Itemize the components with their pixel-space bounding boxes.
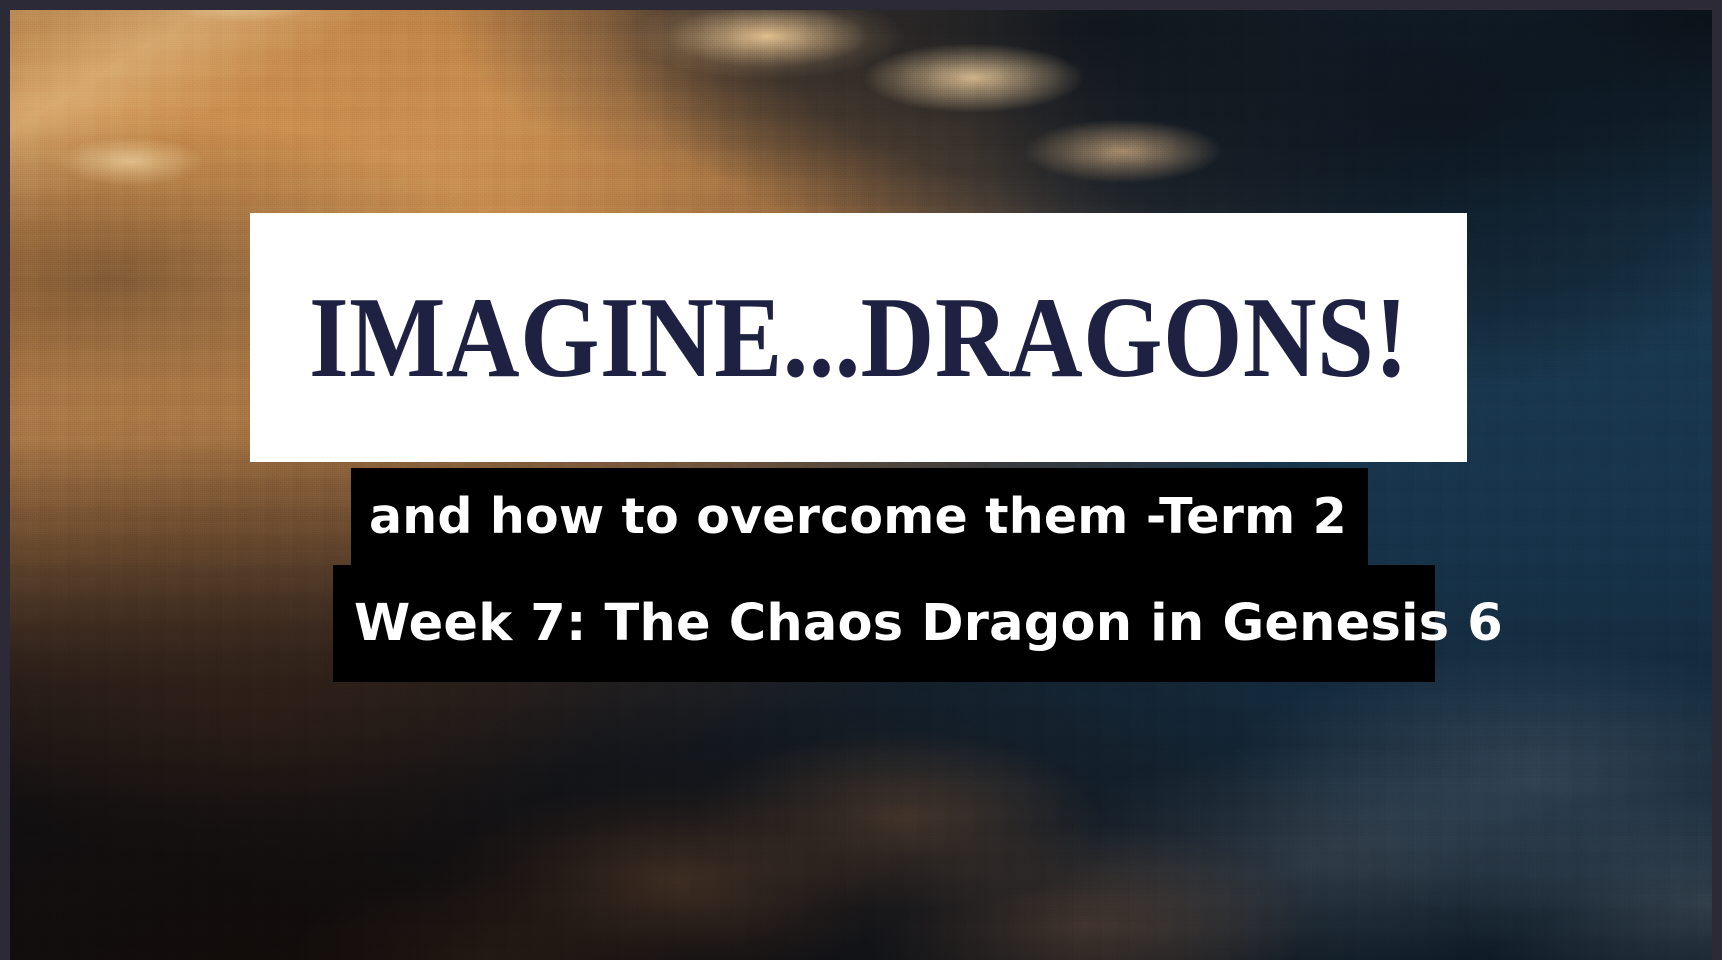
subtitle-line-2: Week 7: The Chaos Dragon in Genesis 6: [354, 598, 1503, 649]
subtitle-line-1: and how to overcome them -Term 2: [369, 492, 1347, 541]
title-card: IMAGINE...DRAGONS!: [250, 213, 1467, 462]
subtitle-bar-primary: and how to overcome them -Term 2: [351, 468, 1368, 565]
slide-title: IMAGINE...DRAGONS!: [309, 280, 1409, 396]
presentation-slide: IMAGINE...DRAGONS! and how to overcome t…: [0, 0, 1722, 960]
subtitle-bar-secondary: Week 7: The Chaos Dragon in Genesis 6: [333, 565, 1435, 682]
